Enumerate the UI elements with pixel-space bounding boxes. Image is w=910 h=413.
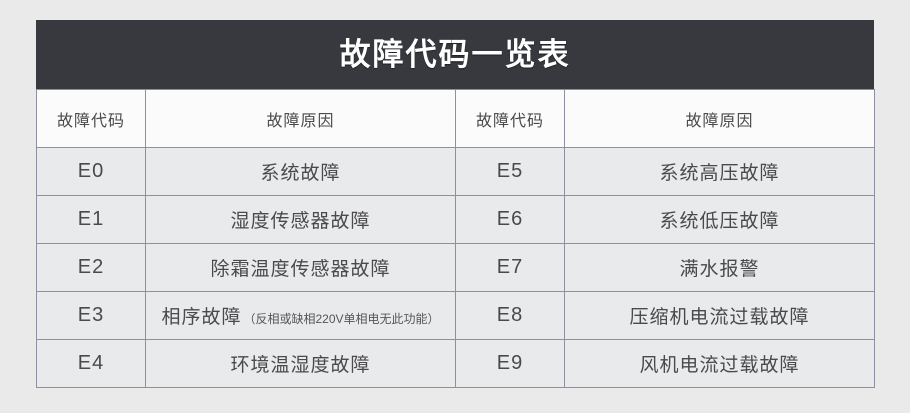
table-header: 故障代码 故障原因 故障代码 故障原因: [37, 90, 875, 148]
column-header-fault-code-right: 故障代码: [456, 90, 565, 148]
page-root: 故障代码一览表 故障代码 故障原因 故障代码 故障原因 E0: [0, 0, 910, 413]
table-row: E4 环境温湿度故障 E9 风机电流过载故障: [37, 340, 875, 388]
fault-reason-text: 环境温湿度故障: [230, 355, 370, 376]
table-row: E1 湿度传感器故障 E6 系统低压故障: [37, 196, 875, 244]
fault-reason-text: 压缩机电流过载故障: [629, 307, 809, 328]
fault-code-cell: E2: [37, 244, 146, 292]
fault-code-table-container: 故障代码一览表 故障代码 故障原因 故障代码 故障原因 E0: [36, 20, 874, 388]
fault-reason-cell: 相序故障（反相或缺相220V单相电无此功能）: [146, 292, 456, 340]
fault-reason-text: 除霜温度传感器故障: [210, 259, 390, 280]
fault-reason-cell: 满水报警: [565, 244, 875, 292]
fault-reason-text: 相序故障: [161, 307, 241, 328]
table-body: E0 系统故障 E5 系统高压故障 E1 湿度传感器故障 E6: [37, 148, 875, 388]
fault-reason-cell: 压缩机电流过载故障: [565, 292, 875, 340]
fault-reason-note: （反相或缺相220V单相电无此功能）: [243, 312, 439, 326]
fault-code-cell: E3: [37, 292, 146, 340]
fault-code-cell: E9: [456, 340, 565, 388]
fault-code-cell: E1: [37, 196, 146, 244]
table-header-row: 故障代码 故障原因 故障代码 故障原因: [37, 90, 875, 148]
fault-code-cell: E6: [456, 196, 565, 244]
fault-reason-cell: 风机电流过载故障: [565, 340, 875, 388]
page-title: 故障代码一览表: [340, 39, 571, 70]
fault-code-cell: E7: [456, 244, 565, 292]
fault-reason-text: 风机电流过载故障: [639, 355, 799, 376]
fault-reason-text: 系统高压故障: [659, 163, 779, 184]
table-row: E2 除霜温度传感器故障 E7 满水报警: [37, 244, 875, 292]
fault-code-cell: E4: [37, 340, 146, 388]
fault-reason-cell: 除霜温度传感器故障: [146, 244, 456, 292]
column-header-fault-reason-right: 故障原因: [565, 90, 875, 148]
fault-code-cell: E5: [456, 148, 565, 196]
table-row: E3 相序故障（反相或缺相220V单相电无此功能） E8 压缩机电流过载故障: [37, 292, 875, 340]
table-title-bar: 故障代码一览表: [36, 20, 874, 89]
fault-reason-cell: 系统高压故障: [565, 148, 875, 196]
fault-reason-cell: 环境温湿度故障: [146, 340, 456, 388]
fault-code-table: 故障代码 故障原因 故障代码 故障原因 E0 系统故障 E5 系统高压故障: [36, 89, 875, 388]
fault-reason-text: 满水报警: [679, 259, 759, 280]
fault-code-cell: E0: [37, 148, 146, 196]
table-row: E0 系统故障 E5 系统高压故障: [37, 148, 875, 196]
fault-reason-cell: 湿度传感器故障: [146, 196, 456, 244]
column-header-fault-reason-left: 故障原因: [146, 90, 456, 148]
fault-reason-text: 湿度传感器故障: [230, 211, 370, 232]
fault-code-cell: E8: [456, 292, 565, 340]
fault-reason-cell: 系统故障: [146, 148, 456, 196]
fault-reason-text: 系统故障: [260, 163, 340, 184]
column-header-fault-code-left: 故障代码: [37, 90, 146, 148]
fault-reason-cell: 系统低压故障: [565, 196, 875, 244]
fault-reason-text: 系统低压故障: [659, 211, 779, 232]
